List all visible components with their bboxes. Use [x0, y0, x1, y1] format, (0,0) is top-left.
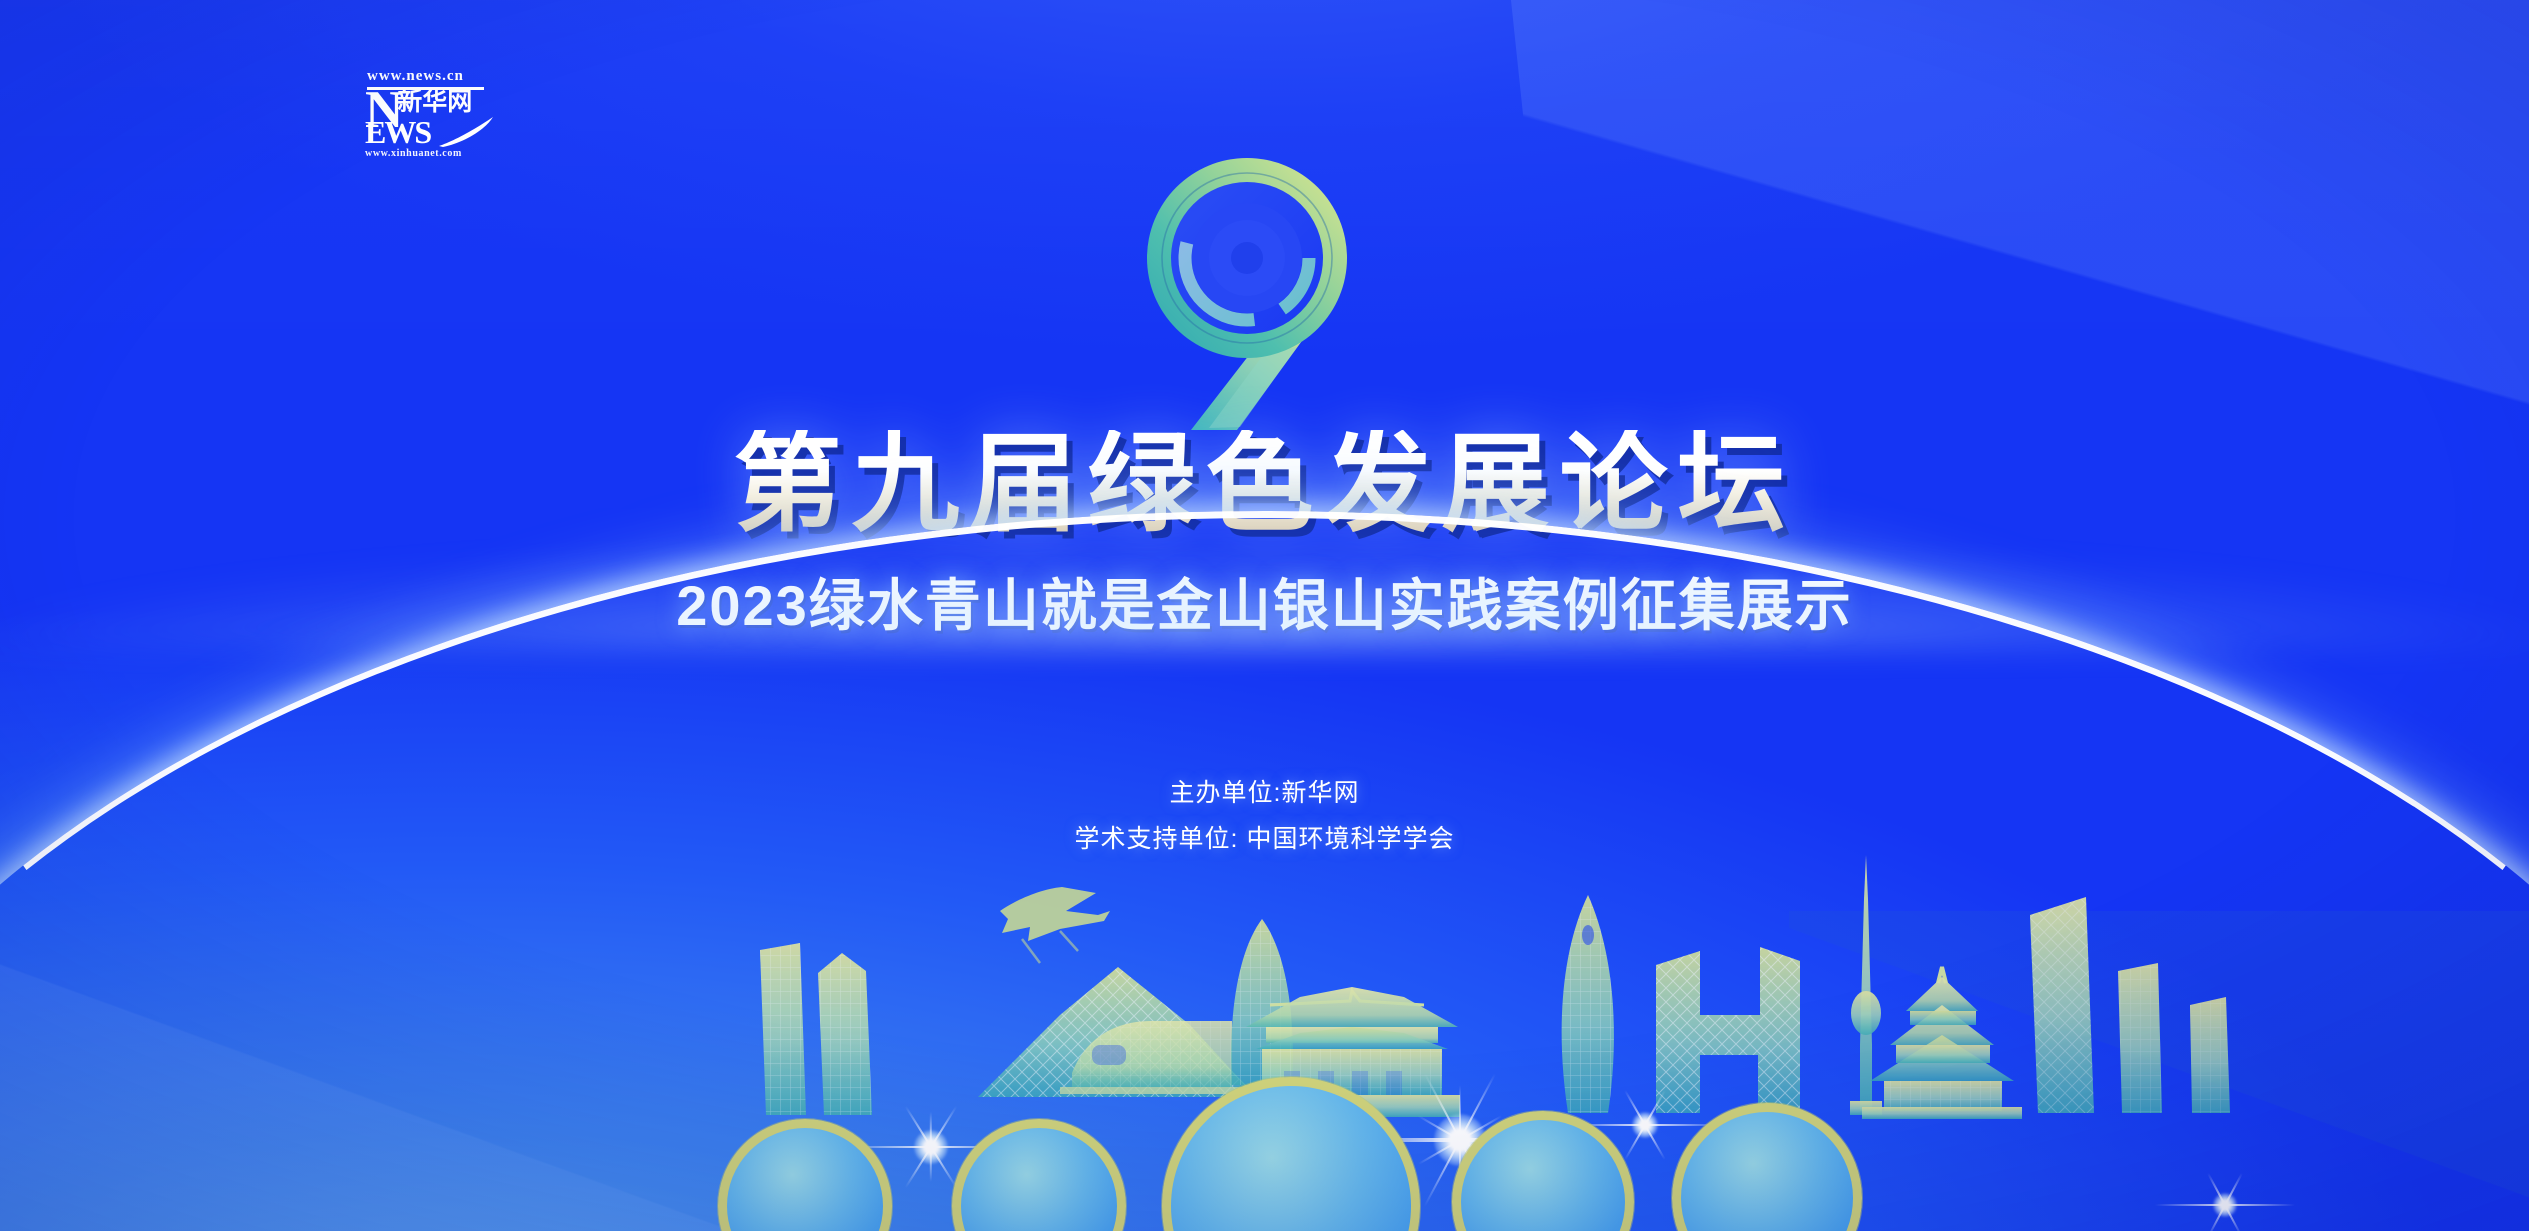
poster-canvas: www.news.cn N 新华网 EWS www.xinhuanet.com — [0, 0, 2529, 1231]
background-vignette — [0, 0, 2529, 1231]
